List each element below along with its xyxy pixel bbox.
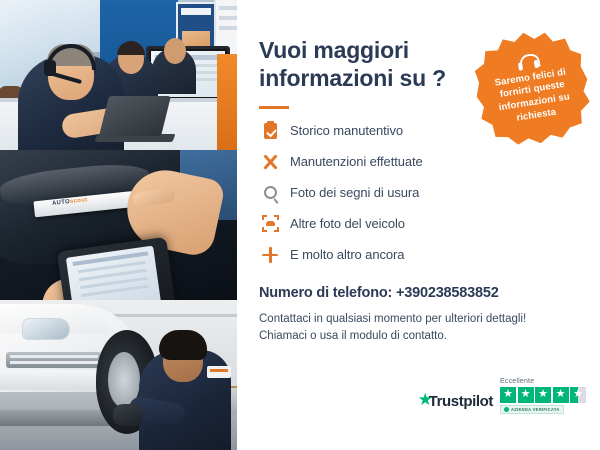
- contact-instructions: Contattaci in qualsiasi momento per ulte…: [259, 311, 582, 347]
- magnifier-icon: [259, 183, 281, 203]
- verified-badge: AZIENDA VERIFICATA: [500, 405, 564, 414]
- title-divider: [259, 106, 289, 109]
- feature-label: E molto altro ancora: [290, 247, 404, 262]
- feature-item-altre-foto: Altre foto del veicolo: [259, 214, 582, 234]
- headset-icon: [517, 53, 539, 70]
- tablet-screen-decor: [66, 246, 162, 300]
- clipboard-check-icon: [259, 121, 281, 141]
- feature-item-manutenzioni: Manutenzioni effettuate: [259, 152, 582, 172]
- mechanic-hair-decor: [159, 330, 207, 360]
- page-title: Vuoi maggiori informazioni su ?: [259, 36, 469, 93]
- photo-car-inspection: AUTOscout: [0, 150, 237, 300]
- content-panel: Vuoi maggiori informazioni su ? Saremo f…: [237, 0, 600, 450]
- background-person-2-head-decor: [164, 38, 186, 64]
- headlight-decor: [22, 318, 70, 340]
- feature-item-altro: E molto altro ancora: [259, 245, 582, 265]
- rating-label: Eccellente: [500, 378, 534, 385]
- uniform-patch-decor: [207, 366, 231, 378]
- star-1: ★: [500, 387, 516, 403]
- feature-item-foto-usura: Foto dei segni di usura: [259, 183, 582, 203]
- feature-label: Altre foto del veicolo: [290, 216, 405, 231]
- mechanic-glove-decor: [113, 404, 143, 426]
- grille-decor: [6, 352, 102, 368]
- trustpilot-logo: Trustpilot: [426, 393, 493, 414]
- laptop-decor: [99, 96, 171, 136]
- feature-list: Storico manutentivo Manutenzioni effettu…: [259, 121, 582, 265]
- scan-car-icon: [259, 214, 281, 234]
- phone-number[interactable]: Numero di telefono: +390238583852: [259, 285, 582, 301]
- trustpilot-rating: Eccellente ★ ★ ★ ★ ★ AZIENDA VERIFICATA: [500, 378, 586, 415]
- star-2: ★: [518, 387, 534, 403]
- orange-rack-decor: [217, 54, 237, 150]
- verified-label: AZIENDA VERIFICATA: [511, 407, 560, 412]
- plus-icon: [259, 245, 281, 265]
- photo-call-center: [0, 0, 237, 150]
- feature-label: Manutenzioni effettuate: [290, 154, 423, 169]
- callout-badge-text: Saremo felici di fornirti queste informa…: [486, 65, 581, 128]
- rating-stars: ★ ★ ★ ★ ★: [500, 387, 586, 403]
- star-3: ★: [535, 387, 551, 403]
- trustpilot-widget[interactable]: Trustpilot Eccellente ★ ★ ★ ★ ★ AZIENDA …: [426, 378, 586, 415]
- verified-check-icon: [504, 407, 509, 412]
- promo-card: AUTOscout: [0, 0, 600, 450]
- photo-mechanic-tire: [0, 300, 237, 450]
- contact-line-2: Chiamaci o usa il modulo di contatto.: [259, 330, 447, 342]
- star-4: ★: [553, 387, 569, 403]
- bumper-decor: [0, 370, 110, 390]
- star-5: ★: [570, 387, 586, 403]
- feature-label: Foto dei segni di usura: [290, 185, 419, 200]
- feature-label: Storico manutentivo: [290, 123, 403, 138]
- trustpilot-brand: Trustpilot: [429, 393, 493, 410]
- crossed-tools-icon: [259, 152, 281, 172]
- contact-line-1: Contattaci in qualsiasi momento per ulte…: [259, 313, 526, 325]
- photo-column: AUTOscout: [0, 0, 237, 450]
